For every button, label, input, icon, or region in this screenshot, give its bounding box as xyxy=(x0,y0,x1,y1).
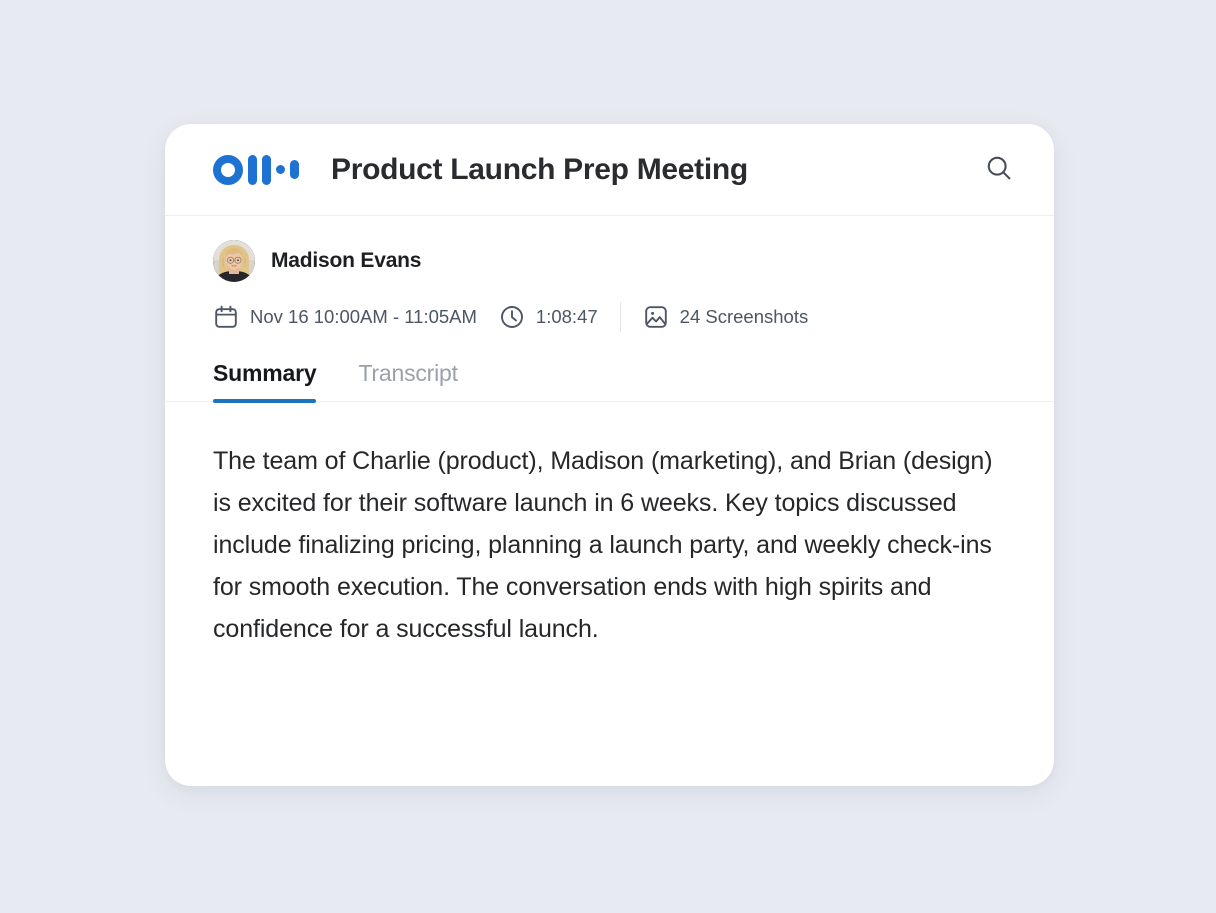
meta-item-date: Nov 16 10:00AM - 11:05AM xyxy=(213,304,477,330)
tab-summary[interactable]: Summary xyxy=(213,360,316,401)
image-icon xyxy=(643,304,669,330)
clock-icon xyxy=(499,304,525,330)
page-root: Product Launch Prep Meeting xyxy=(0,0,1216,913)
meta-item-duration: 1:08:47 xyxy=(499,304,598,330)
otter-logo-dot xyxy=(276,165,285,174)
avatar[interactable] xyxy=(213,240,255,282)
avatar-photo xyxy=(213,240,255,282)
page-title: Product Launch Prep Meeting xyxy=(331,153,748,187)
otter-logo[interactable] xyxy=(213,153,299,187)
card-header: Product Launch Prep Meeting xyxy=(165,124,1054,216)
meeting-meta-block: Madison Evans Nov 16 10:00AM - 11:05AM xyxy=(165,216,1054,332)
search-icon xyxy=(984,153,1014,186)
otter-logo-bar-1 xyxy=(248,155,257,185)
summary-text: The team of Charlie (product), Madison (… xyxy=(213,440,1003,650)
tab-bar: Summary Transcript xyxy=(165,360,1054,402)
meta-date-label: Nov 16 10:00AM - 11:05AM xyxy=(250,306,477,328)
meta-item-screenshots[interactable]: 24 Screenshots xyxy=(643,304,809,330)
meta-divider xyxy=(620,302,621,332)
meta-duration-label: 1:08:47 xyxy=(536,306,598,328)
otter-logo-bar-3 xyxy=(290,160,299,179)
otter-logo-bar-2 xyxy=(262,155,271,185)
meta-screenshots-label: 24 Screenshots xyxy=(680,306,809,328)
summary-panel: The team of Charlie (product), Madison (… xyxy=(165,402,1054,650)
calendar-icon xyxy=(213,304,239,330)
speaker-row: Madison Evans xyxy=(213,240,1006,282)
meeting-card: Product Launch Prep Meeting xyxy=(165,124,1054,786)
tab-transcript[interactable]: Transcript xyxy=(358,360,457,401)
speaker-name: Madison Evans xyxy=(271,249,421,273)
search-button[interactable] xyxy=(980,151,1018,189)
meeting-meta-row: Nov 16 10:00AM - 11:05AM 1:08:47 xyxy=(213,302,1006,332)
otter-logo-ring xyxy=(213,155,243,185)
